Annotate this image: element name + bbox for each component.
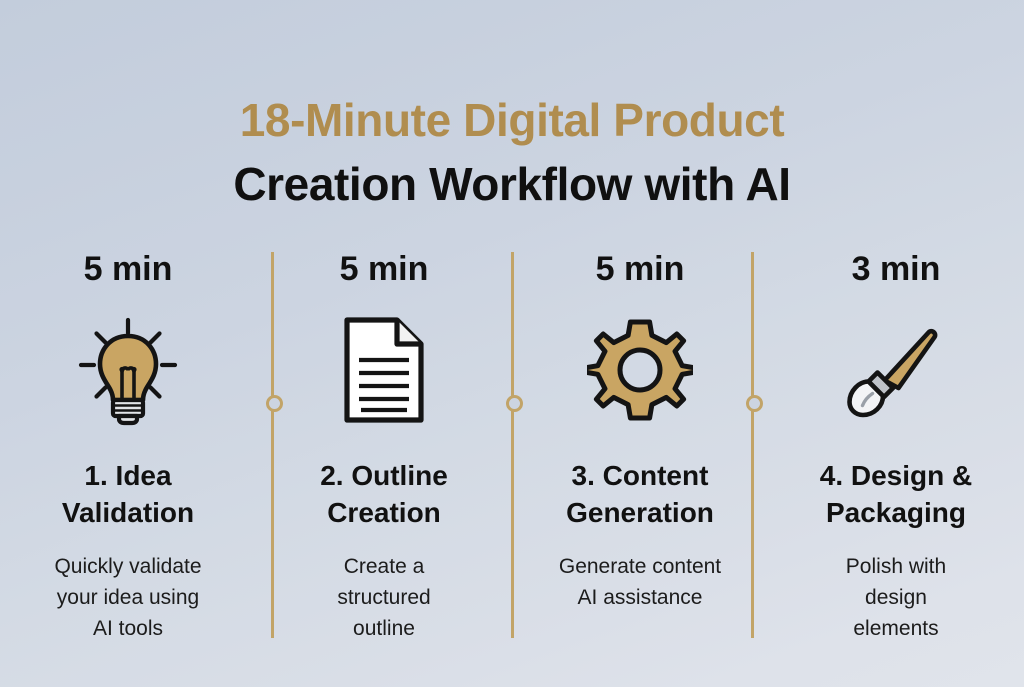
step-title-4: 4. Design & Packaging <box>820 458 972 532</box>
step-duration-4: 3 min <box>852 252 941 292</box>
paintbrush-icon <box>840 310 952 430</box>
page-title: 18-Minute Digital Product Creation Workf… <box>0 96 1024 209</box>
title-line-main: Creation Workflow with AI <box>0 160 1024 210</box>
step-title-3: 3. Content Generation <box>566 458 714 532</box>
step-duration-1: 5 min <box>84 252 173 292</box>
step-column-3: 5 min 3. Content Genera <box>512 252 768 644</box>
step-column-2: 5 min 2. Outline Creation Create a struc… <box>256 252 512 644</box>
step-description-2: Create a structured outline <box>337 552 430 645</box>
step-column-4: 3 min 4. Design & Packaging Polish with … <box>768 252 1024 644</box>
lightbulb-icon <box>72 310 184 430</box>
title-line-accent: 18-Minute Digital Product <box>0 96 1024 146</box>
step-description-1: Quickly validate your idea using AI tool… <box>54 552 201 645</box>
step-title-2: 2. Outline Creation <box>320 458 448 532</box>
infographic-canvas: 18-Minute Digital Product Creation Workf… <box>0 0 1024 687</box>
step-duration-2: 5 min <box>340 252 429 292</box>
steps-row: 5 min <box>0 252 1024 644</box>
gear-icon <box>587 310 693 430</box>
step-column-1: 5 min <box>0 252 256 644</box>
step-description-4: Polish with design elements <box>846 552 946 645</box>
document-icon <box>340 310 428 430</box>
step-description-3: Generate content AI assistance <box>559 552 721 614</box>
step-title-1: 1. Idea Validation <box>62 458 194 532</box>
step-duration-3: 5 min <box>596 252 685 292</box>
